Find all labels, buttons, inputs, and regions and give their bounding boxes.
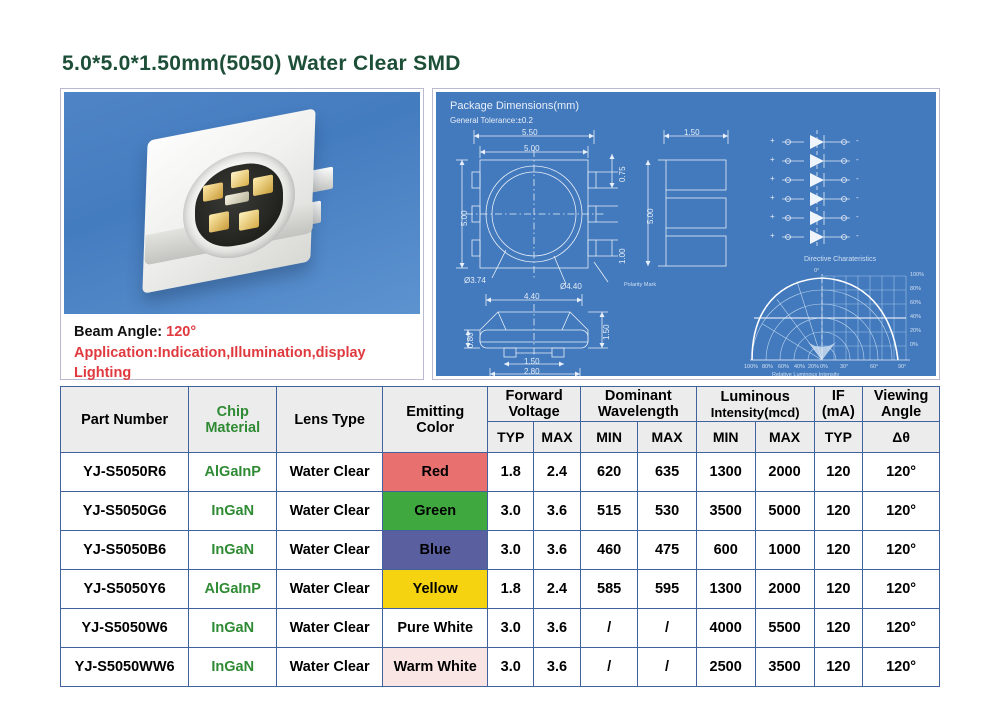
header-if-line1: IF bbox=[815, 388, 863, 404]
chart-top-angle: 0° bbox=[814, 268, 819, 274]
header-luminous-intensity: Luminous Intensity(mcd) bbox=[696, 387, 814, 422]
schematic-plus: + bbox=[770, 193, 775, 202]
dim-front-base: 0.80 bbox=[466, 332, 475, 348]
chart-ytick-60: 60% bbox=[910, 300, 921, 306]
header-emitting-color: Emitting Color bbox=[383, 387, 488, 453]
cell-if-typ: 120 bbox=[814, 492, 863, 531]
cell-luminous-intensity-max: 2000 bbox=[755, 570, 814, 609]
dim-left-height: 5.00 bbox=[460, 210, 469, 226]
cell-forward-voltage-typ: 3.0 bbox=[488, 531, 534, 570]
chart-xtick-left-0: 0% bbox=[820, 364, 828, 370]
cell-wavelength-max: 595 bbox=[638, 570, 696, 609]
header-part-number: Part Number bbox=[61, 387, 189, 453]
cell-chip-material: AlGaInP bbox=[189, 570, 277, 609]
chart-xtick-left-40: 40% bbox=[794, 364, 805, 370]
schematic-plus: + bbox=[770, 231, 775, 240]
header-chip-material-line1: Chip bbox=[189, 404, 276, 420]
table-header: Part Number Chip Material Lens Type Emit… bbox=[61, 387, 940, 453]
cell-lens-type: Water Clear bbox=[277, 453, 383, 492]
chart-xtick-left-20: 20% bbox=[808, 364, 819, 370]
header-iv-min: MIN bbox=[696, 422, 755, 453]
chart-xtick-60: 60° bbox=[870, 364, 878, 370]
cell-wavelength-max: 530 bbox=[638, 492, 696, 531]
header-if-line2: (mA) bbox=[815, 404, 863, 420]
cell-forward-voltage-typ: 1.8 bbox=[488, 570, 534, 609]
cell-if-typ: 120 bbox=[814, 648, 863, 687]
led-chip bbox=[253, 174, 273, 196]
table-row[interactable]: YJ-S5050R6AlGaInPWater ClearRed1.82.4620… bbox=[61, 453, 940, 492]
cell-chip-material: InGaN bbox=[189, 648, 277, 687]
cell-part-number: YJ-S5050B6 bbox=[61, 531, 189, 570]
cell-wavelength-max: 475 bbox=[638, 531, 696, 570]
cell-luminous-intensity-min: 1300 bbox=[696, 570, 755, 609]
table-row[interactable]: YJ-S5050Y6AlGaInPWater ClearYellow1.82.4… bbox=[61, 570, 940, 609]
cell-forward-voltage-typ: 3.0 bbox=[488, 609, 534, 648]
chart-ytick-100: 100% bbox=[910, 272, 924, 278]
cell-part-number: YJ-S5050W6 bbox=[61, 609, 189, 648]
cell-part-number: YJ-S5050WW6 bbox=[61, 648, 189, 687]
cell-forward-voltage-max: 2.4 bbox=[534, 570, 581, 609]
led-chip bbox=[225, 191, 249, 206]
dim-pad-pitch: 0.75 bbox=[618, 166, 627, 182]
beam-angle-line: Beam Angle: 120° bbox=[74, 322, 420, 343]
header-forward-voltage: Forward Voltage bbox=[488, 387, 580, 422]
header-viewing-angle-line2: Angle bbox=[863, 404, 939, 420]
led-chip bbox=[239, 209, 259, 231]
schematic-plus: + bbox=[770, 136, 775, 145]
package-dimensions-panel: Package Dimensions(mm) General Tolerance… bbox=[432, 88, 940, 380]
cell-wavelength-max: 635 bbox=[638, 453, 696, 492]
led-photo bbox=[64, 92, 420, 314]
header-chip-material: Chip Material bbox=[189, 387, 277, 453]
cell-viewing-angle: 120° bbox=[863, 609, 940, 648]
cell-lens-type: Water Clear bbox=[277, 531, 383, 570]
header-forward-voltage-line2: Voltage bbox=[488, 404, 579, 420]
package-drawing: Package Dimensions(mm) General Tolerance… bbox=[436, 92, 936, 376]
cell-chip-material: InGaN bbox=[189, 492, 277, 531]
header-if: IF (mA) bbox=[814, 387, 863, 422]
table-body: YJ-S5050R6AlGaInPWater ClearRed1.82.4620… bbox=[61, 453, 940, 687]
chart-ytick-20: 20% bbox=[910, 328, 921, 334]
cell-luminous-intensity-max: 5500 bbox=[755, 609, 814, 648]
beam-angle-value: 120° bbox=[166, 324, 196, 340]
cell-viewing-angle: 120° bbox=[863, 492, 940, 531]
schematic-plus: + bbox=[770, 174, 775, 183]
cell-forward-voltage-max: 3.6 bbox=[534, 531, 581, 570]
schematic-minus: - bbox=[856, 193, 859, 202]
cell-wavelength-min: 460 bbox=[580, 531, 638, 570]
chart-ytick-0: 0% bbox=[910, 342, 918, 348]
cell-lens-type: Water Clear bbox=[277, 570, 383, 609]
cell-lens-type: Water Clear bbox=[277, 648, 383, 687]
cell-chip-material: AlGaInP bbox=[189, 453, 277, 492]
chart-xtick-left-100: 100% bbox=[744, 364, 758, 370]
cell-lens-type: Water Clear bbox=[277, 609, 383, 648]
led-package-illustration bbox=[117, 103, 367, 303]
cell-forward-voltage-max: 2.4 bbox=[534, 453, 581, 492]
dim-pad-gap: 1.00 bbox=[618, 248, 627, 264]
dim-pad-small: 1.50 bbox=[524, 357, 540, 366]
specification-table: Part Number Chip Material Lens Type Emit… bbox=[60, 386, 940, 687]
schematic-minus: - bbox=[856, 136, 859, 145]
schematic-minus: - bbox=[856, 231, 859, 240]
schematic-minus: - bbox=[856, 155, 859, 164]
header-vf-max: MAX bbox=[534, 422, 581, 453]
beam-angle-label: Beam Angle: bbox=[74, 324, 166, 340]
header-wl-max: MAX bbox=[638, 422, 696, 453]
cell-emitting-color: Green bbox=[383, 492, 488, 531]
cell-lens-type: Water Clear bbox=[277, 492, 383, 531]
header-dominant-wavelength-line1: Dominant bbox=[581, 388, 696, 404]
cell-wavelength-min: 585 bbox=[580, 570, 638, 609]
header-viewing-angle: Viewing Angle bbox=[863, 387, 940, 422]
cell-chip-material: InGaN bbox=[189, 609, 277, 648]
chart-xtick-90: 90° bbox=[898, 364, 906, 370]
header-luminous-intensity-line1: Luminous bbox=[697, 389, 814, 405]
led-chip bbox=[231, 169, 249, 188]
led-chip bbox=[203, 182, 223, 202]
cell-luminous-intensity-max: 2000 bbox=[755, 453, 814, 492]
table-row[interactable]: YJ-S5050G6InGaNWater ClearGreen3.03.6515… bbox=[61, 492, 940, 531]
cell-emitting-color: Blue bbox=[383, 531, 488, 570]
dim-front-height: 1.50 bbox=[602, 324, 611, 340]
header-vf-typ: TYP bbox=[488, 422, 534, 453]
dim-circle-inner: Ø3.74 bbox=[464, 276, 486, 285]
dim-top-outer: 5.50 bbox=[522, 128, 538, 137]
cell-if-typ: 120 bbox=[814, 570, 863, 609]
cell-emitting-color: Warm White bbox=[383, 648, 488, 687]
schematic-plus: + bbox=[770, 212, 775, 221]
header-dominant-wavelength: Dominant Wavelength bbox=[580, 387, 696, 422]
cell-wavelength-min: 515 bbox=[580, 492, 638, 531]
header-forward-voltage-line1: Forward bbox=[488, 388, 579, 404]
schematic-plus: + bbox=[770, 155, 775, 164]
chart-title: Directive Charateristics bbox=[804, 256, 876, 263]
table-row[interactable]: YJ-S5050B6InGaNWater ClearBlue3.03.64604… bbox=[61, 531, 940, 570]
chart-xtick-left-80: 80% bbox=[762, 364, 773, 370]
cell-luminous-intensity-max: 5000 bbox=[755, 492, 814, 531]
schematic-minus: - bbox=[856, 212, 859, 221]
cell-emitting-color: Red bbox=[383, 453, 488, 492]
dim-front-width: 4.40 bbox=[524, 292, 540, 301]
cell-luminous-intensity-min: 2500 bbox=[696, 648, 755, 687]
cell-if-typ: 120 bbox=[814, 453, 863, 492]
header-if-typ: TYP bbox=[814, 422, 863, 453]
cell-wavelength-min: / bbox=[580, 648, 638, 687]
cell-viewing-angle: 120° bbox=[863, 648, 940, 687]
led-chip bbox=[209, 211, 229, 233]
cell-wavelength-min: / bbox=[580, 609, 638, 648]
cell-if-typ: 120 bbox=[814, 531, 863, 570]
cell-luminous-intensity-min: 3500 bbox=[696, 492, 755, 531]
chart-xtick-left-60: 60% bbox=[778, 364, 789, 370]
application-line: Application:Indication,Illumination,disp… bbox=[74, 343, 420, 384]
dim-side-width: 1.50 bbox=[684, 128, 700, 137]
dim-side-height: 5.00 bbox=[646, 208, 655, 224]
cell-part-number: YJ-S5050R6 bbox=[61, 453, 189, 492]
datasheet-page: 5.0*5.0*1.50mm(5050) Water Clear SMD bbox=[0, 0, 1000, 720]
cell-part-number: YJ-S5050Y6 bbox=[61, 570, 189, 609]
chart-ytick-40: 40% bbox=[910, 314, 921, 320]
dim-circle-outer: Ø4.40 bbox=[560, 282, 582, 291]
cell-viewing-angle: 120° bbox=[863, 570, 940, 609]
header-viewing-angle-line1: Viewing bbox=[863, 388, 939, 404]
table-header-row-1: Part Number Chip Material Lens Type Emit… bbox=[61, 387, 940, 422]
cell-luminous-intensity-max: 1000 bbox=[755, 531, 814, 570]
cell-luminous-intensity-min: 4000 bbox=[696, 609, 755, 648]
header-view-angle-symbol: Δθ bbox=[863, 422, 940, 453]
cell-chip-material: InGaN bbox=[189, 531, 277, 570]
cell-part-number: YJ-S5050G6 bbox=[61, 492, 189, 531]
cell-viewing-angle: 120° bbox=[863, 453, 940, 492]
cell-wavelength-min: 620 bbox=[580, 453, 638, 492]
cell-luminous-intensity-min: 1300 bbox=[696, 453, 755, 492]
header-emitting-color-line1: Emitting bbox=[383, 404, 487, 420]
header-luminous-intensity-line2: Intensity(mcd) bbox=[697, 405, 814, 420]
table-row[interactable]: YJ-S5050WW6InGaNWater ClearWarm White3.0… bbox=[61, 648, 940, 687]
header-chip-material-line2: Material bbox=[189, 420, 276, 436]
cell-luminous-intensity-max: 3500 bbox=[755, 648, 814, 687]
cell-luminous-intensity-min: 600 bbox=[696, 531, 755, 570]
polarity-mark-label: Polarity Mark bbox=[624, 282, 656, 288]
header-dominant-wavelength-line2: Wavelength bbox=[581, 404, 696, 420]
chart-ytick-80: 80% bbox=[910, 286, 921, 292]
header-lens-type: Lens Type bbox=[277, 387, 383, 453]
chart-xtick-30: 30° bbox=[840, 364, 848, 370]
cell-forward-voltage-typ: 3.0 bbox=[488, 492, 534, 531]
cell-emitting-color: Pure White bbox=[383, 609, 488, 648]
cell-forward-voltage-max: 3.6 bbox=[534, 609, 581, 648]
page-title: 5.0*5.0*1.50mm(5050) Water Clear SMD bbox=[62, 52, 461, 76]
cell-emitting-color: Yellow bbox=[383, 570, 488, 609]
cell-wavelength-max: / bbox=[638, 609, 696, 648]
cell-forward-voltage-typ: 1.8 bbox=[488, 453, 534, 492]
header-iv-max: MAX bbox=[755, 422, 814, 453]
chart-xlabel: Relative Luminous Intensity bbox=[772, 372, 839, 376]
cell-wavelength-max: / bbox=[638, 648, 696, 687]
cell-viewing-angle: 120° bbox=[863, 531, 940, 570]
cell-forward-voltage-max: 3.6 bbox=[534, 492, 581, 531]
header-emitting-color-line2: Color bbox=[383, 420, 487, 436]
table-row[interactable]: YJ-S5050W6InGaNWater ClearPure White3.03… bbox=[61, 609, 940, 648]
cell-if-typ: 120 bbox=[814, 609, 863, 648]
cell-forward-voltage-max: 3.6 bbox=[534, 648, 581, 687]
schematic-minus: - bbox=[856, 174, 859, 183]
product-photo-panel: Beam Angle: 120° Application:Indication,… bbox=[60, 88, 424, 380]
cell-forward-voltage-typ: 3.0 bbox=[488, 648, 534, 687]
dim-top-inner: 5.00 bbox=[524, 144, 540, 153]
header-wl-min: MIN bbox=[580, 422, 638, 453]
dim-pad-total: 2.80 bbox=[524, 367, 540, 376]
